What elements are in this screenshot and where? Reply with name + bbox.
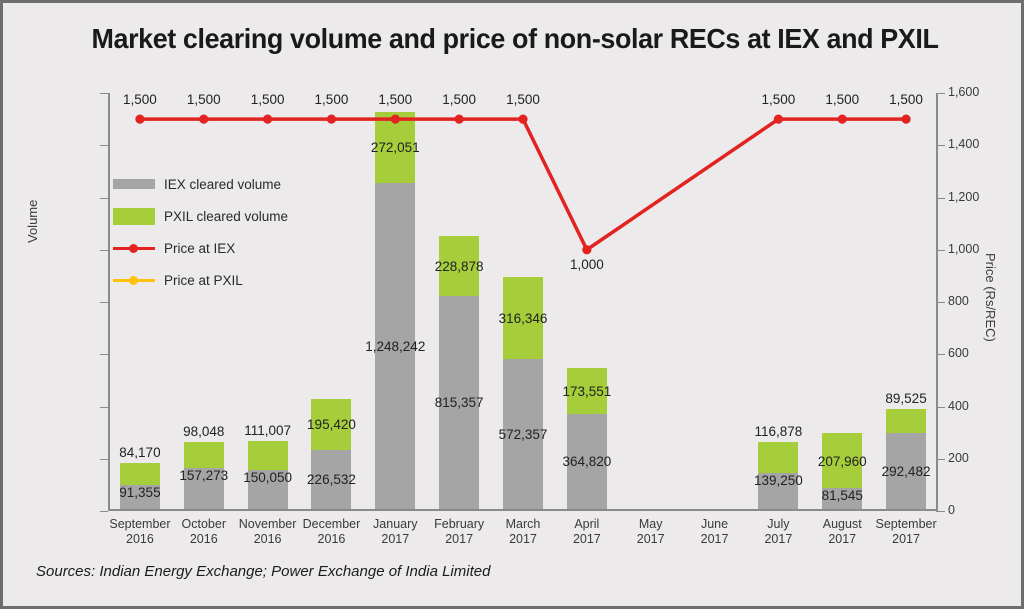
price-iex-marker [518, 115, 527, 124]
bar-label-iex: 81,545 [782, 488, 902, 503]
price-iex-marker [838, 115, 847, 124]
bar-label-pxil: 116,878 [718, 424, 838, 439]
bar-column [439, 236, 479, 509]
chart-frame: Market clearing volume and price of non-… [0, 0, 1024, 609]
y-tick-left [100, 407, 108, 408]
price-iex-marker [455, 115, 464, 124]
y-tick-right [936, 250, 945, 251]
y-tick-label-right: 0 [948, 503, 955, 517]
bar-segment-pxil [248, 441, 288, 470]
bar-label-pxil: 228,878 [399, 259, 519, 274]
price-iex-marker [901, 115, 910, 124]
bar-label-iex: 815,357 [399, 395, 519, 410]
bar-label-iex: 364,820 [527, 454, 647, 469]
y-axis-left-label: Volume [25, 200, 40, 243]
bar-segment-pxil [886, 409, 926, 432]
y-tick-left [100, 198, 108, 199]
y-tick-label-right: 600 [948, 346, 969, 360]
y-tick-right [936, 459, 945, 460]
y-axis-right-label: Price (Rs/REC) [983, 253, 998, 342]
bar-label-iex: 1,248,242 [335, 339, 455, 354]
sources-note: Sources: Indian Energy Exchange; Power E… [36, 563, 490, 580]
y-tick-left [100, 302, 108, 303]
legend-item-price_pxil[interactable]: Price at PXIL [113, 267, 288, 293]
chart-legend: IEX cleared volumePXIL cleared volumePri… [113, 171, 288, 299]
chart-title: Market clearing volume and price of non-… [23, 23, 1006, 55]
bar-label-pxil: 195,420 [271, 417, 391, 432]
plot-area: 0200,000400,000600,000800,0001,000,0001,… [108, 93, 938, 511]
price-iex-marker [327, 115, 336, 124]
y-tick-label-right: 1,200 [948, 190, 979, 204]
bar-label-pxil: 84,170 [80, 445, 200, 460]
x-tick-label-line: 2017 [851, 532, 961, 547]
y-tick-label-right: 1,400 [948, 137, 979, 151]
y-tick-right [936, 145, 945, 146]
legend-label: PXIL cleared volume [164, 209, 288, 224]
y-tick-label-right: 1,000 [948, 242, 979, 256]
y-tick-left [100, 354, 108, 355]
y-tick-label-right: 200 [948, 451, 969, 465]
y-tick-left [100, 511, 108, 512]
bar-label-iex: 139,250 [718, 473, 838, 488]
price-label: 1,000 [527, 257, 647, 272]
legend-line-icon [113, 272, 155, 288]
y-tick-right [936, 354, 945, 355]
legend-label: Price at PXIL [164, 273, 243, 288]
bar-label-iex: 572,357 [463, 427, 583, 442]
bar-label-pxil: 89,525 [846, 391, 966, 406]
legend-item-iex_volume[interactable]: IEX cleared volume [113, 171, 288, 197]
bar-label-iex: 226,532 [271, 472, 391, 487]
x-tick-label-line: September [851, 517, 961, 532]
price-iex-marker [135, 115, 144, 124]
legend-label: IEX cleared volume [164, 177, 281, 192]
price-label: 1,500 [846, 92, 966, 107]
price-iex-marker [199, 115, 208, 124]
bar-column [375, 112, 415, 509]
bar-label-iex: 292,482 [846, 464, 966, 479]
bar-column [311, 399, 351, 509]
bar-label-pxil: 272,051 [335, 140, 455, 155]
legend-item-pxil_volume[interactable]: PXIL cleared volume [113, 203, 288, 229]
legend-label: Price at IEX [164, 241, 235, 256]
legend-swatch-icon [113, 179, 155, 189]
y-tick-right [936, 302, 945, 303]
legend-swatch-icon [113, 208, 155, 225]
y-tick-right [936, 198, 945, 199]
price-iex-marker [582, 245, 591, 254]
y-tick-right [936, 511, 945, 512]
price-iex-marker [774, 115, 783, 124]
y-tick-label-right: 800 [948, 294, 969, 308]
y-tick-left [100, 250, 108, 251]
x-axis [108, 509, 938, 511]
price-label: 1,500 [463, 92, 583, 107]
price-iex-marker [263, 115, 272, 124]
x-tick-label: September2017 [851, 517, 961, 547]
legend-line-icon [113, 240, 155, 256]
y-tick-right [936, 407, 945, 408]
bar-label-pxil: 316,346 [463, 311, 583, 326]
bar-label-pxil: 173,551 [527, 384, 647, 399]
legend-item-price_iex[interactable]: Price at IEX [113, 235, 288, 261]
bar-label-iex: 91,355 [80, 485, 200, 500]
y-tick-left [100, 145, 108, 146]
